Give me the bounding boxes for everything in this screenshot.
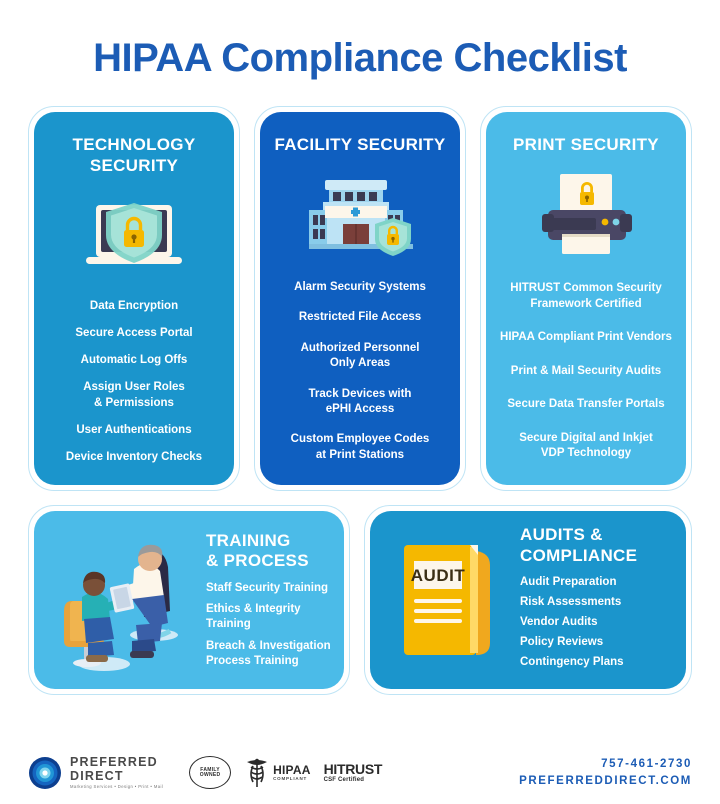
- card-title-print: PRINT SECURITY: [513, 134, 659, 155]
- card-title-facility: FACILITY SECURITY: [274, 134, 445, 155]
- card-facility-security: FACILITY SECURITY: [254, 106, 466, 491]
- website-url[interactable]: PREFERREDDIRECT.COM: [519, 773, 692, 790]
- item-list-facility: Alarm Security Systems Restricted File A…: [270, 272, 450, 471]
- list-item: Staff Security Training: [206, 581, 332, 596]
- list-item: Audit Preparation: [520, 575, 674, 590]
- preferred-direct-logo[interactable]: PREFERRED DIRECT Marketing Services • De…: [28, 756, 163, 790]
- list-item: Alarm Security Systems: [270, 279, 450, 297]
- list-item: Data Encryption: [44, 298, 224, 316]
- hitrust-badge-sub: CSF Certified: [324, 777, 383, 783]
- brand-name: PREFERRED DIRECT: [70, 756, 163, 782]
- item-list-technology: Data Encryption Secure Access Portal Aut…: [44, 294, 224, 472]
- list-item: Ethics & Integrity Training: [206, 602, 332, 632]
- list-item: Policy Reviews: [520, 635, 674, 650]
- audits-text-block: AUDITS & COMPLIANCE Audit Preparation Ri…: [500, 525, 674, 674]
- svg-text:AUDIT: AUDIT: [411, 566, 466, 585]
- bottom-card-row: TRAINING & PROCESS Staff Security Traini…: [28, 505, 692, 695]
- list-item: Risk Assessments: [520, 595, 674, 610]
- card-title-training: TRAINING & PROCESS: [206, 531, 332, 572]
- two-people-training-icon: [46, 523, 196, 678]
- audit-folder-icon: AUDIT: [396, 537, 500, 663]
- card-title-technology: TECHNOLOGY SECURITY: [44, 134, 224, 177]
- list-item: Secure Data Transfer Portals: [496, 396, 676, 414]
- list-item: Secure Digital and Inkjet VDP Technology: [496, 430, 676, 463]
- training-text-block: TRAINING & PROCESS Staff Security Traini…: [196, 531, 332, 669]
- footer-contact: 757-461-2730 PREFERREDDIRECT.COM: [519, 756, 692, 791]
- list-item: Authorized Personnel Only Areas: [270, 340, 450, 373]
- card-print-security: PRINT SECURITY: [480, 106, 692, 491]
- list-item: Automatic Log Offs: [44, 352, 224, 370]
- hitrust-badge-main: HITRUST: [324, 762, 383, 777]
- list-item: Vendor Audits: [520, 615, 674, 630]
- page-title: HIPAA Compliance Checklist: [28, 0, 692, 106]
- infographic-page: HIPAA Compliance Checklist TECHNOLOGY SE…: [0, 0, 720, 804]
- preferred-direct-circle-logo: [28, 756, 62, 790]
- brand-tagline: Marketing Services • Design • Print • Ma…: [70, 785, 163, 789]
- card-training-process: TRAINING & PROCESS Staff Security Traini…: [28, 505, 350, 695]
- list-item: Track Devices with ePHI Access: [270, 386, 450, 419]
- list-item: Contingency Plans: [520, 655, 674, 670]
- list-item: Device Inventory Checks: [44, 449, 224, 467]
- family-owned-badge: FAMILY OWNED: [189, 756, 231, 789]
- list-item: Assign User Roles & Permissions: [44, 379, 224, 412]
- phone-number[interactable]: 757-461-2730: [519, 756, 692, 773]
- hipaa-badge-sub: COMPLIANT: [273, 777, 310, 782]
- hospital-building-shield-icon: [295, 161, 425, 266]
- list-item: HITRUST Common Security Framework Certif…: [496, 280, 676, 313]
- card-technology-security: TECHNOLOGY SECURITY: [28, 106, 240, 491]
- laptop-shield-lock-icon: [74, 183, 194, 288]
- certification-badges: FAMILY OWNED HIPAA: [189, 756, 382, 789]
- footer: PREFERRED DIRECT Marketing Services • De…: [28, 756, 692, 791]
- list-item: Print & Mail Security Audits: [496, 363, 676, 381]
- list-item: User Authentications: [44, 422, 224, 440]
- list-item: Secure Access Portal: [44, 325, 224, 343]
- list-item: Custom Employee Codes at Print Stations: [270, 431, 450, 464]
- footer-left: PREFERRED DIRECT Marketing Services • De…: [28, 756, 382, 790]
- hipaa-compliant-badge: HIPAA COMPLIANT: [244, 757, 310, 789]
- item-list-print: HITRUST Common Security Framework Certif…: [496, 272, 676, 471]
- top-card-row: TECHNOLOGY SECURITY: [28, 106, 692, 491]
- list-item: HIPAA Compliant Print Vendors: [496, 329, 676, 347]
- caduceus-icon: [244, 757, 270, 789]
- list-item: Breach & Investigation Process Training: [206, 639, 332, 669]
- family-owned-line2: OWNED: [200, 773, 221, 778]
- hipaa-badge-main: HIPAA: [273, 764, 310, 776]
- list-item: Restricted File Access: [270, 309, 450, 327]
- hitrust-badge: HITRUST CSF Certified: [324, 762, 383, 783]
- printer-lock-icon: [526, 161, 646, 266]
- card-title-audits: AUDITS & COMPLIANCE: [520, 525, 674, 566]
- card-audits-compliance: AUDIT AUDITS & COMPLIANCE Audit Preparat…: [364, 505, 692, 695]
